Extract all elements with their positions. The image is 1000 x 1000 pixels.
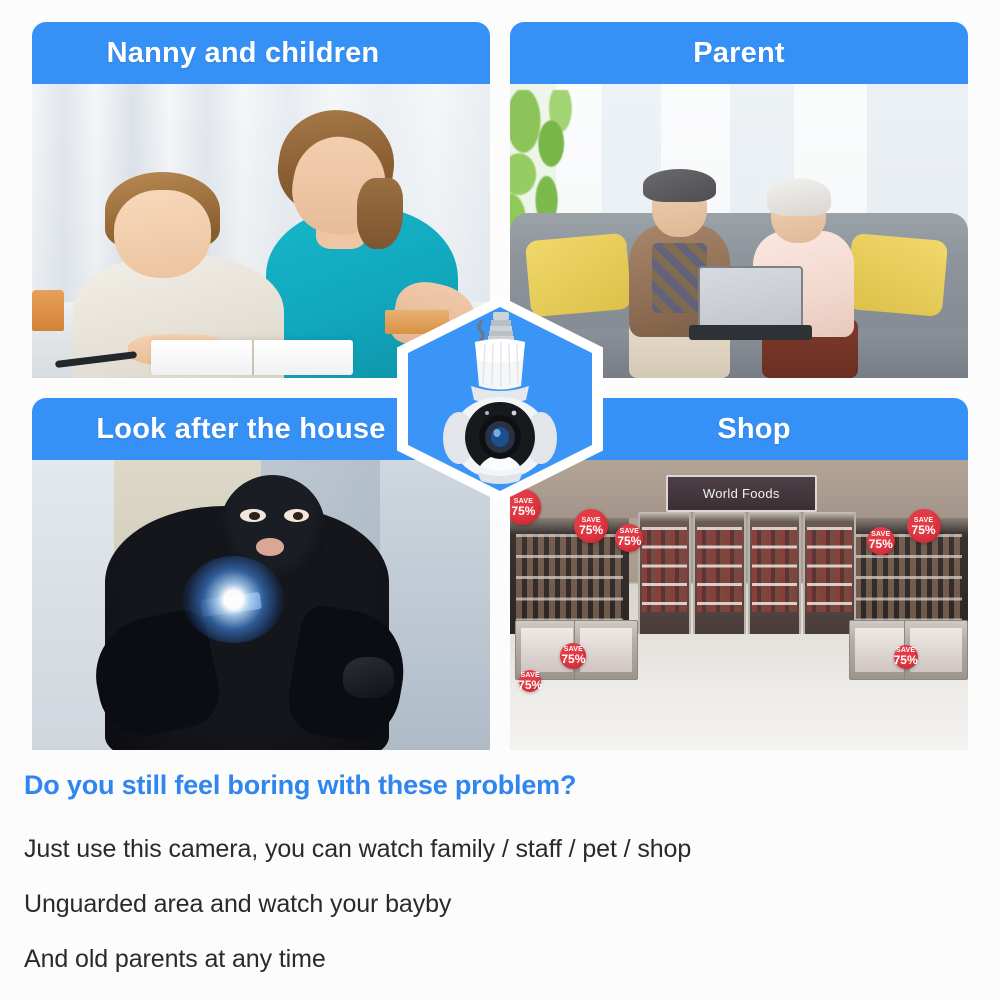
save-badge: SAVE 75% <box>519 670 541 692</box>
laptop-screen <box>698 266 803 328</box>
copy-line: And old parents at any time <box>24 945 974 974</box>
save-badge: SAVE 75% <box>907 509 941 543</box>
flashlight-beam <box>183 556 284 643</box>
store-sign-label: World Foods <box>703 486 780 501</box>
copy-line: Unguarded area and watch your bayby <box>24 890 974 919</box>
save-badge-percent: 75% <box>894 654 918 666</box>
save-badge-percent: 75% <box>579 524 603 536</box>
shelf-bay-1 <box>638 512 691 634</box>
store-section-sign: World Foods <box>666 475 817 513</box>
save-badge-percent: 75% <box>912 524 936 536</box>
center-product-badge <box>397 296 603 502</box>
boy-head <box>114 190 210 278</box>
shelf-bay-2 <box>693 512 746 634</box>
photo-burglar <box>32 460 490 750</box>
copy-line: Just use this camera, you can watch fami… <box>24 835 974 864</box>
photo-supermarket: World Foods SAVE 75% SAVE 75% SAVE 75% S… <box>510 460 968 750</box>
laptop-base <box>689 325 813 340</box>
save-badge: SAVE 75% <box>560 643 586 669</box>
shelf-bay-4 <box>803 512 856 634</box>
save-badge: SAVE 75% <box>894 645 918 669</box>
product-feature-graphic: Nanny and children <box>0 0 1000 1000</box>
leather-glove <box>343 657 393 698</box>
panel-header-nanny-and-children: Nanny and children <box>32 22 490 84</box>
burglar-mouth <box>256 538 283 555</box>
panel-header-parent: Parent <box>510 22 968 84</box>
save-badge: SAVE 75% <box>615 524 643 552</box>
bulb-socket-camera-icon <box>397 296 603 502</box>
save-badge: SAVE 75% <box>867 527 895 555</box>
woman-hair <box>767 178 831 216</box>
save-badge-percent: 75% <box>518 679 542 691</box>
flat-cap <box>643 169 716 201</box>
panel-title: Look after the house <box>96 413 385 446</box>
save-badge-percent: 75% <box>561 653 585 665</box>
woman-hair-strand <box>357 178 403 249</box>
shelf-bay-3 <box>748 512 801 634</box>
shelving-left <box>510 518 629 634</box>
panel-title: Nanny and children <box>107 37 380 70</box>
headline: Do you still feel boring with these prob… <box>24 770 974 801</box>
save-badge-percent: 75% <box>511 505 535 517</box>
panel-title: Parent <box>693 37 784 70</box>
cup <box>32 290 64 331</box>
marketing-copy: Do you still feel boring with these prob… <box>24 770 974 974</box>
save-badge-percent: 75% <box>617 535 641 547</box>
panel-title: Shop <box>717 413 790 446</box>
cushion-right <box>846 233 948 318</box>
open-book <box>151 340 353 375</box>
save-badge-percent: 75% <box>869 538 893 550</box>
